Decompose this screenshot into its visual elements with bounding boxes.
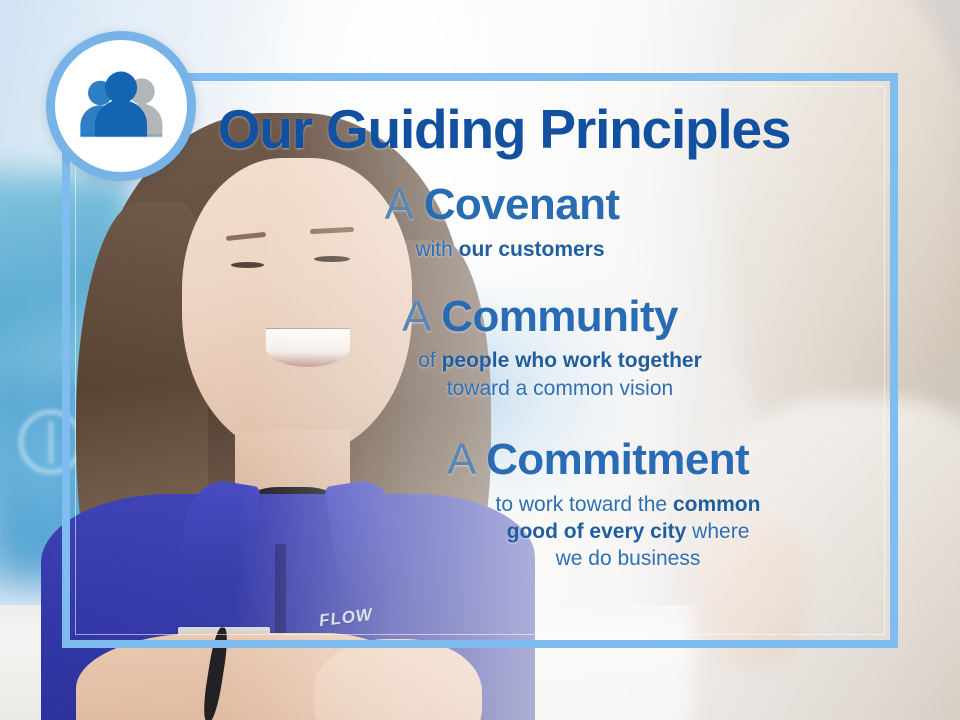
principle-keyword: Covenant [424, 180, 620, 229]
principle-subtext-line: of people who work together [258, 347, 862, 374]
principle-subtext-line: toward a common vision [258, 375, 862, 402]
principle-subtext-covenant: with our customers [142, 236, 862, 263]
principle-subtext-commitment: to work toward the commongood of every c… [334, 491, 862, 573]
principle-article: A [402, 292, 429, 341]
subtext-plain: of [418, 349, 441, 372]
subtext-emphasis: our customers [459, 238, 605, 261]
subtext-plain: where [686, 520, 749, 543]
subtext-emphasis: common [673, 493, 761, 516]
principle-keyword: Commitment [486, 435, 749, 484]
page-title: Our Guiding Principles [146, 101, 862, 157]
subtext-plain: with [415, 238, 458, 261]
principle-subtext-community: of people who work togethertoward a comm… [218, 347, 862, 402]
subtext-plain: toward a common vision [447, 377, 673, 400]
principle-block-covenant: A Covenant with our customers [98, 181, 862, 263]
principle-subtext-line: to work toward the common [394, 491, 862, 518]
principle-keyword: Community [441, 292, 678, 341]
principle-block-community: A Community of people who work togethert… [98, 293, 862, 402]
principle-subtext-line: with our customers [158, 236, 862, 263]
subtext-plain: we do business [556, 547, 701, 570]
poster-content: Our Guiding Principles A Covenant with o… [62, 73, 898, 648]
principle-headline-community: A Community [218, 293, 862, 341]
principle-headline-commitment: A Commitment [334, 436, 862, 484]
principle-block-commitment: A Commitment to work toward the commongo… [98, 436, 862, 572]
subtext-emphasis: good of every city [507, 520, 687, 543]
guiding-principles-poster: FLOW FLOW Our Guiding Principles [0, 0, 960, 720]
principle-article: A [447, 435, 474, 484]
principle-subtext-line: good of every city where [394, 518, 862, 545]
subtext-emphasis: people who work together [442, 349, 702, 372]
subtext-plain: to work toward the [496, 493, 673, 516]
principle-subtext-line: we do business [394, 545, 862, 572]
principle-article: A [385, 180, 412, 229]
principle-headline-covenant: A Covenant [142, 181, 862, 229]
